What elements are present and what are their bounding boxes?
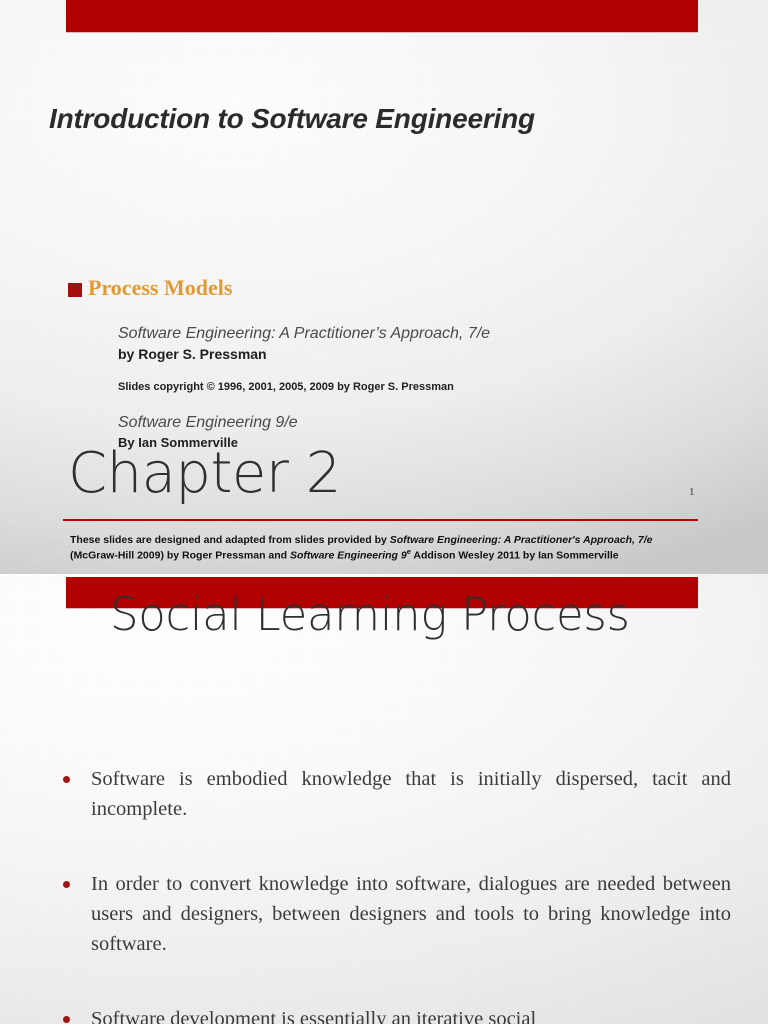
list-item: Software is embodied knowledge that is i… xyxy=(63,764,731,825)
bullet-text: Software is embodied knowledge that is i… xyxy=(91,764,731,825)
reference-1-copyright: Slides copyright © 1996, 2001, 2005, 200… xyxy=(118,381,698,394)
slide-2-bullet-list: Software is embodied knowledge that is i… xyxy=(63,764,731,1024)
footnote-line1-prefix: These slides are designed and adapted fr… xyxy=(70,534,390,546)
slide-1-page-number: 1 xyxy=(689,486,695,498)
bullet-dot-icon xyxy=(63,776,70,783)
bullet-text: In order to convert knowledge into softw… xyxy=(91,869,731,960)
slide-2[interactable]: Social Learning Process Software is embo… xyxy=(0,574,768,1024)
footnote-line2-suffix: Addison Wesley 2011 by Ian Sommerville xyxy=(411,550,619,562)
slide-1-title: Introduction to Software Engineering xyxy=(49,103,535,135)
bullet-text: Software development is essentially an i… xyxy=(91,1004,731,1024)
list-item: Software development is essentially an i… xyxy=(63,1004,731,1024)
reference-1-author: by Roger S. Pressman xyxy=(118,346,698,363)
list-item: In order to convert knowledge into softw… xyxy=(63,869,731,960)
slide-deck-viewer: Introduction to Software Engineering Pro… xyxy=(0,0,768,1024)
slide-1-top-red-banner xyxy=(66,0,698,33)
footnote-line1-book: Software Engineering: A Practitioner's A… xyxy=(390,534,653,546)
footnote-line2-prefix: (McGraw-Hill 2009) by Roger Pressman and xyxy=(70,550,290,562)
reference-2-book-title: Software Engineering 9/e xyxy=(118,413,698,433)
slide-1-chapter-heading: Chapter 2 xyxy=(68,446,341,502)
square-bullet-icon xyxy=(68,283,82,297)
footnote-line2-book: Software Engineering 9 xyxy=(290,550,407,562)
slide-1-footnote: These slides are designed and adapted fr… xyxy=(70,534,680,563)
section-label-row: Process Models xyxy=(68,276,698,300)
bullet-dot-icon xyxy=(63,1016,70,1023)
reference-group: Software Engineering: A Practitioner’s A… xyxy=(118,324,698,451)
slide-1-red-divider xyxy=(63,519,698,521)
slide-2-title: Social Learning Process xyxy=(110,584,670,646)
reference-1-book-title: Software Engineering: A Practitioner’s A… xyxy=(118,324,698,344)
slide-1-content-block: Process Models Software Engineering: A P… xyxy=(68,276,698,451)
bullet-dot-icon xyxy=(63,881,70,888)
section-label: Process Models xyxy=(88,276,232,300)
slide-1[interactable]: Introduction to Software Engineering Pro… xyxy=(0,0,768,574)
